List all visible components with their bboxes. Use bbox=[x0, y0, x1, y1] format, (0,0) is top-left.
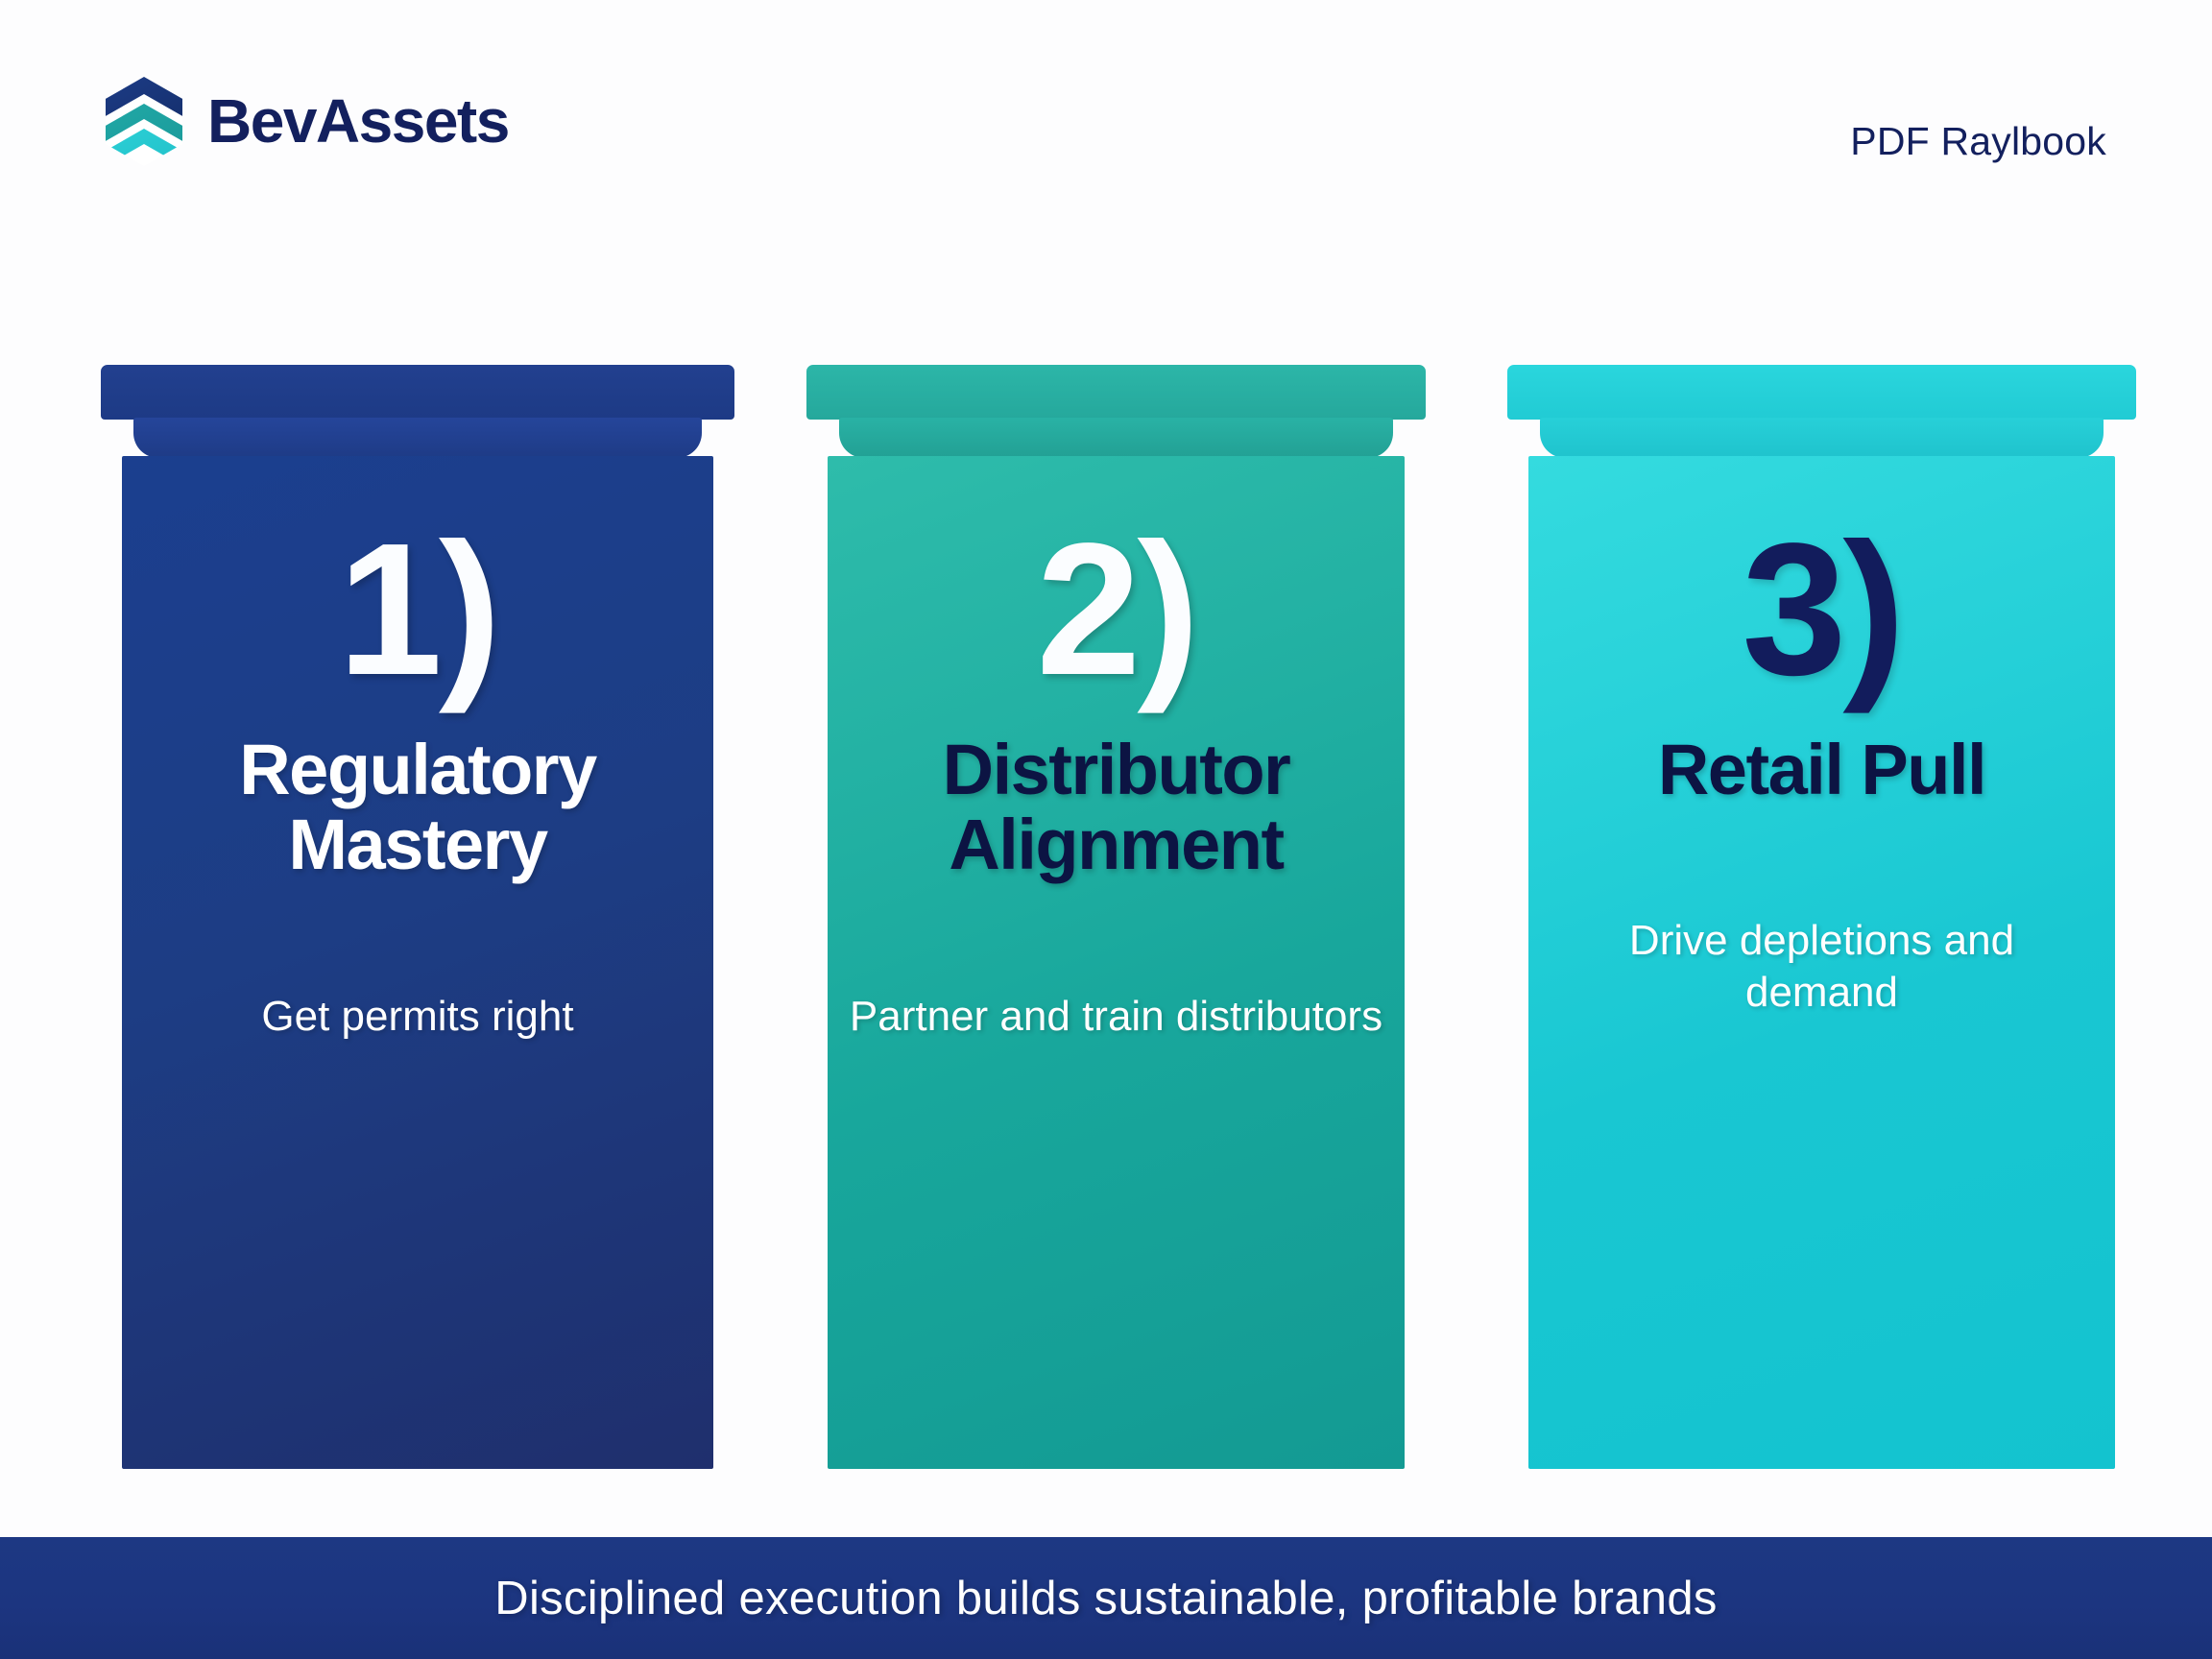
pillar-column-1[interactable]: 1) Regulatory Mastery Get permits right bbox=[101, 365, 734, 1469]
pillars-row: 1) Regulatory Mastery Get permits right … bbox=[0, 365, 2212, 1469]
pillar-cap-top bbox=[101, 365, 734, 420]
pillar-cap-band bbox=[1540, 418, 2104, 458]
pillar-column-2[interactable]: 2) Distributor Alignment Partner and tra… bbox=[806, 365, 1426, 1469]
pillar-cap-top bbox=[806, 365, 1426, 420]
pillar-number: 2) bbox=[1036, 516, 1195, 704]
pillar-shaft: 1) Regulatory Mastery Get permits right bbox=[122, 456, 713, 1469]
pillar-shaft: 2) Distributor Alignment Partner and tra… bbox=[828, 456, 1405, 1469]
slide-header: BevAssets PDF Raylbook bbox=[0, 0, 2212, 221]
slide-footer: Disciplined execution builds sustainable… bbox=[0, 1537, 2212, 1659]
slide-canvas: BevAssets PDF Raylbook 1) Regulatory Mas… bbox=[0, 0, 2212, 1659]
pillar-cap-band bbox=[133, 418, 702, 458]
pillar-title: Distributor Alignment bbox=[828, 733, 1405, 883]
pillar-column-3[interactable]: 3) Retail Pull Drive depletions and dema… bbox=[1507, 365, 2136, 1469]
pillar-subtitle: Get permits right bbox=[242, 991, 592, 1043]
pillar-subtitle: Drive depletions and demand bbox=[1528, 915, 2115, 1018]
pillar-title: Regulatory Mastery bbox=[122, 733, 713, 883]
hexagon-chevron-logo-icon bbox=[104, 75, 184, 167]
brand-name: BevAssets bbox=[207, 90, 509, 152]
brand-lockup: BevAssets bbox=[104, 75, 509, 167]
pillar-cap-top bbox=[1507, 365, 2136, 420]
pillar-shaft: 3) Retail Pull Drive depletions and dema… bbox=[1528, 456, 2115, 1469]
pillar-number: 3) bbox=[1742, 516, 1901, 704]
pillar-subtitle: Partner and train distributors bbox=[830, 991, 1402, 1043]
pillar-number: 1) bbox=[338, 516, 497, 704]
pillar-title: Retail Pull bbox=[1658, 733, 1985, 807]
footer-tagline: Disciplined execution builds sustainable… bbox=[494, 1572, 1717, 1625]
document-label: PDF Raylbook bbox=[1850, 119, 2106, 164]
pillar-cap-band bbox=[839, 418, 1393, 458]
